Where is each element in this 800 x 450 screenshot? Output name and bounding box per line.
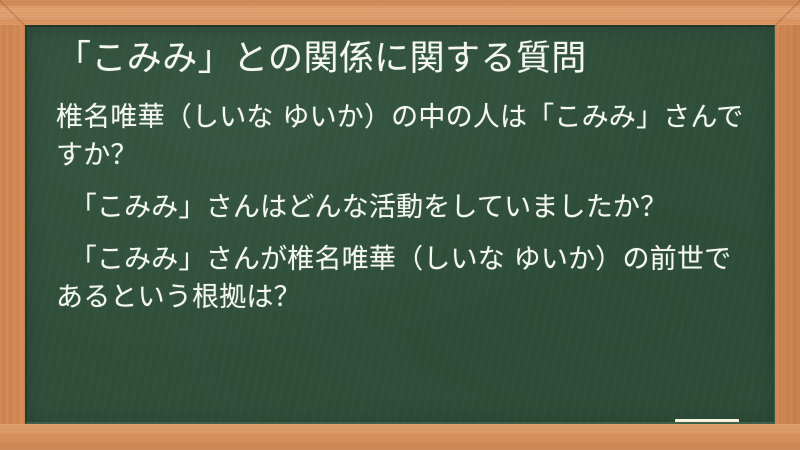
chalkboard-surface: 「こみみ」との関係に関する質問 椎名唯華（しいな ゆいか）の中の人は「こみみ」さ… <box>25 25 775 424</box>
slide-title: 「こみみ」との関係に関する質問 <box>56 33 756 85</box>
wooden-frame-top-rail <box>0 0 800 25</box>
chalk-stick <box>675 419 739 424</box>
question-line-3: 「こみみ」さんが椎名唯華（しいな ゆいか）の前世であるという根拠は？ <box>56 241 746 317</box>
chalkboard-slide: 「こみみ」との関係に関する質問 椎名唯華（しいな ゆいか）の中の人は「こみみ」さ… <box>0 0 800 450</box>
wooden-frame-bottom-rail <box>0 424 800 450</box>
question-list: 椎名唯華（しいな ゆいか）の中の人は「こみみ」さんですか？ 「こみみ」さんはどん… <box>56 99 746 331</box>
question-line-2: 「こみみ」さんはどんな活動をしていましたか？ <box>56 189 746 227</box>
question-line-1: 椎名唯華（しいな ゆいか）の中の人は「こみみ」さんですか？ <box>56 99 746 175</box>
